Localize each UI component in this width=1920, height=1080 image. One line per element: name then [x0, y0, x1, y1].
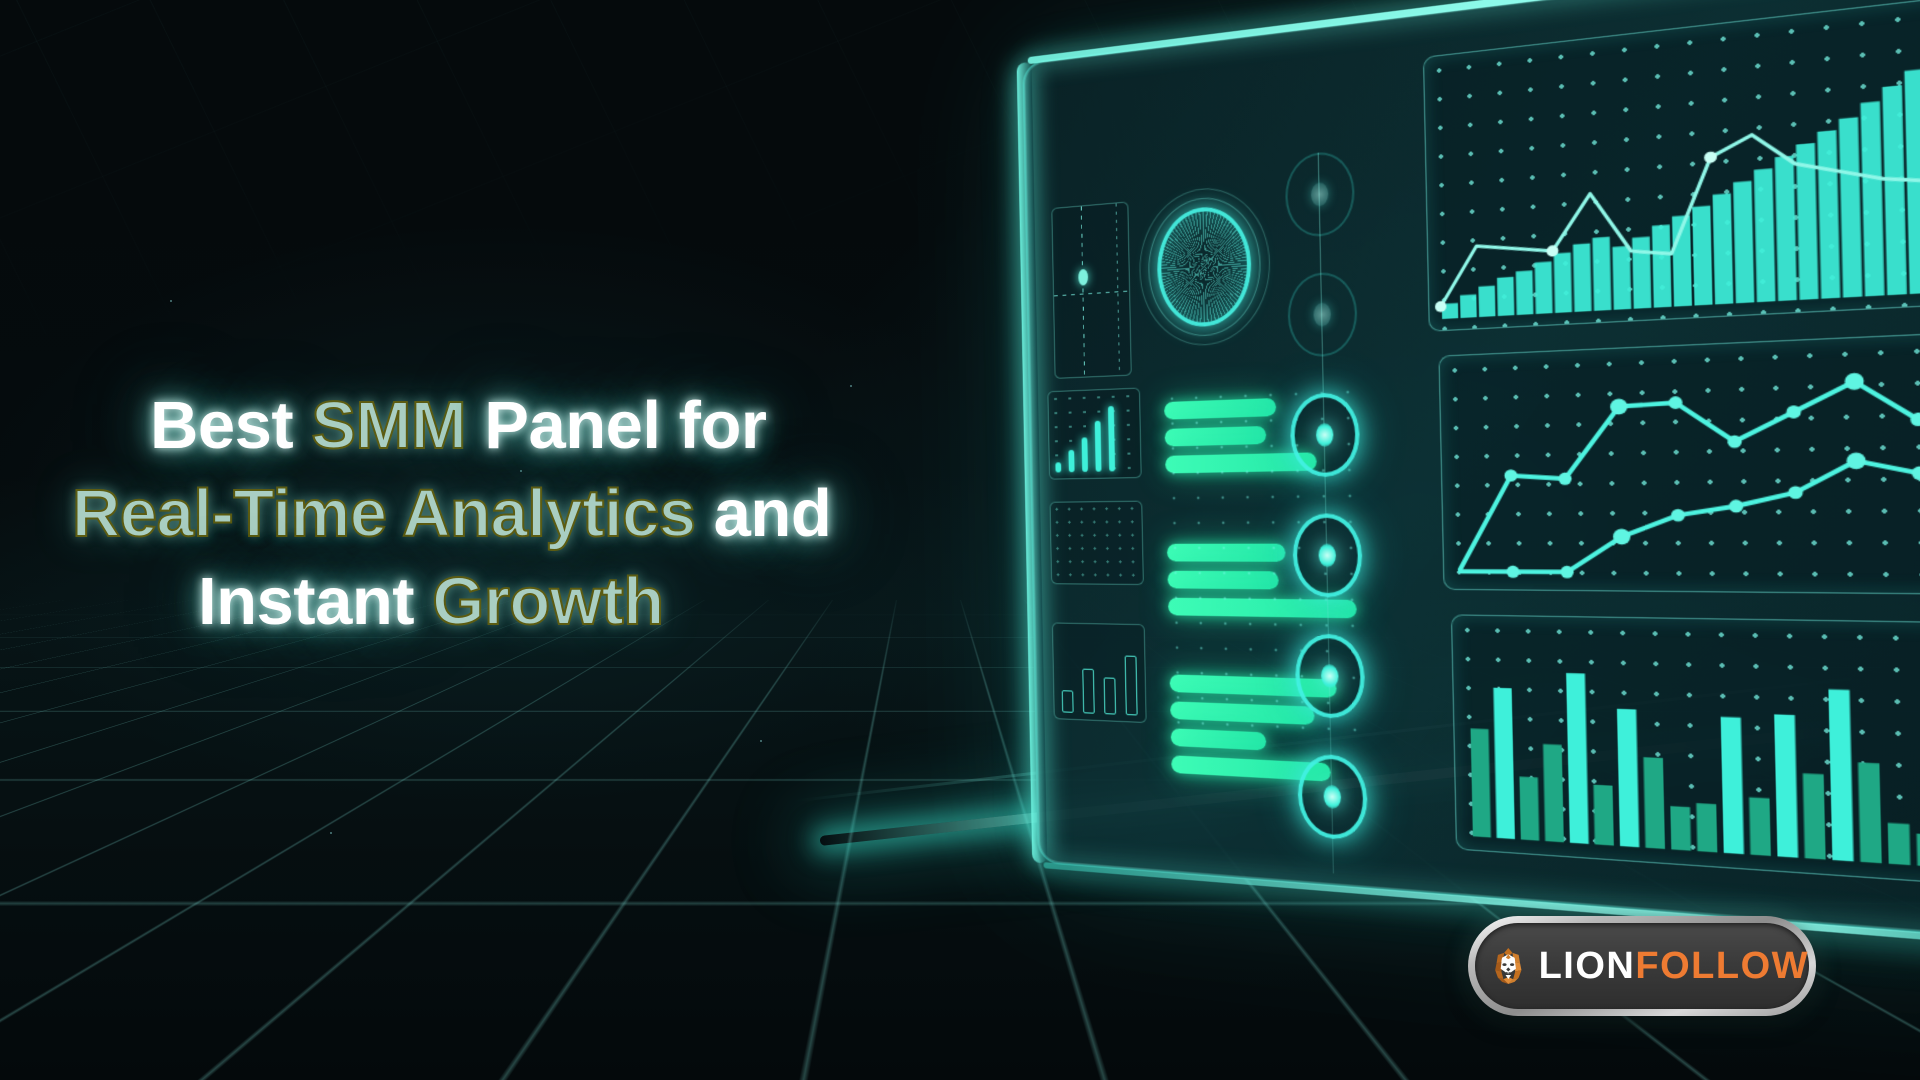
lion-head-icon [1491, 927, 1526, 1005]
headline-line-2: Real-Time Analytics and [72, 470, 990, 558]
mini-dot-matrix[interactable] [1050, 501, 1144, 585]
dual-line-chart-svg [1440, 332, 1920, 594]
dual-line-chart[interactable] [1438, 330, 1920, 595]
headline-seg-accent: SMM [311, 388, 466, 463]
indicator-node[interactable] [1287, 270, 1358, 358]
bar [1167, 544, 1286, 562]
headline-seg-accent: Real-Time Analytics [72, 476, 696, 551]
brand-wordmark: LIONFOLLOW [1539, 945, 1809, 988]
headline-seg: Instant [198, 564, 432, 639]
headline-seg: and [696, 476, 832, 551]
bar [1171, 728, 1266, 750]
growth-area-chart[interactable] [1423, 0, 1920, 332]
headline-line-3: Instant Growth [198, 558, 990, 646]
particle [760, 740, 762, 742]
page-title: Best SMM Panel for Real-Time Analytics a… [150, 382, 990, 646]
hero-banner: Best SMM Panel for Real-Time Analytics a… [0, 0, 1920, 1080]
volume-bar-chart-svg [1452, 615, 1920, 887]
indicator-node[interactable] [1295, 633, 1366, 719]
brand-name-primary: LION [1539, 945, 1636, 988]
volume-bar-chart[interactable] [1451, 614, 1920, 888]
growth-area-chart-svg [1424, 0, 1920, 331]
headline-seg: Panel for [466, 388, 766, 463]
headline-line-1: Best SMM Panel for [150, 382, 990, 470]
bar [1167, 571, 1278, 590]
indicator-node[interactable] [1285, 149, 1356, 238]
particle [170, 300, 172, 302]
node-chain [1280, 149, 1373, 877]
mini-step-chart[interactable] [1047, 388, 1141, 480]
mini-scatter-widget[interactable] [1051, 201, 1131, 379]
radial-gauge[interactable] [1138, 183, 1272, 349]
headline-seg: Best [150, 388, 311, 463]
mini-bar-widget[interactable] [1052, 622, 1147, 723]
analytics-dashboard [1022, 0, 1920, 944]
headline-seg-accent: Growth [432, 564, 663, 639]
bar [1165, 426, 1266, 447]
particle [330, 832, 332, 834]
brand-name-accent: FOLLOW [1635, 945, 1809, 988]
bar [1164, 398, 1276, 420]
brand-logo[interactable]: LIONFOLLOW [1468, 916, 1816, 1016]
indicator-node[interactable] [1290, 392, 1361, 478]
indicator-node[interactable] [1297, 753, 1368, 841]
indicator-node[interactable] [1292, 513, 1363, 598]
